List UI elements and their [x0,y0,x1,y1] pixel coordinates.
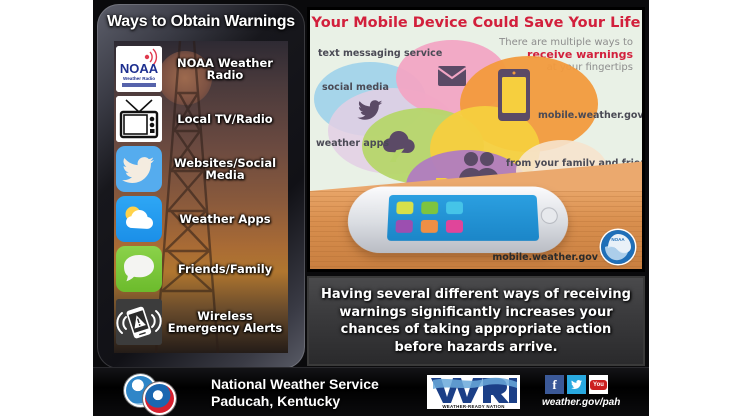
youtube-glyph: You [590,380,607,390]
svg-text:NOAA: NOAA [120,61,159,76]
television-icon [116,96,162,142]
phone-screen [387,195,539,241]
weather-ready-nation-logo: WEATHER-READY NATION [427,375,520,409]
envelope-icon [437,64,467,88]
slide-canvas: Ways to Obtain Warnings [93,0,649,416]
list-item-label: Wireless Emergency Alerts [162,310,288,335]
list-item[interactable]: Wireless Emergency Alerts [114,297,288,347]
twitter-bird-icon [354,98,384,122]
app-tile [421,202,438,215]
office-line-1: National Weather Service [211,376,379,392]
app-tile [446,220,463,233]
twitter-icon[interactable] [567,375,586,394]
list-item-label: NOAA Weather Radio [162,57,288,82]
mobile-phone-icon [496,68,532,122]
svg-text:Weather Radio: Weather Radio [123,76,155,81]
phone-home-button [540,207,558,224]
social-links[interactable]: f You [545,375,608,394]
svg-text:NOAA: NOAA [611,237,625,242]
facebook-icon[interactable]: f [545,375,564,394]
list-item-label: Friends/Family [162,263,288,276]
infographic-subhead-line1: There are multiple ways to [499,37,633,48]
page-title: Ways to Obtain Warnings [97,13,305,31]
wireless-emergency-alert-icon [116,299,162,345]
label-mobile-weather-gov: mobile.weather.gov [538,110,644,121]
website-url[interactable]: weather.gov/pah [542,397,620,408]
weather-app-sun-cloud-icon [116,196,162,242]
national-weather-service-seal-icon [143,382,176,415]
list-item[interactable]: Local TV/Radio [114,95,288,143]
wrn-tagline: WEATHER-READY NATION [427,404,520,409]
noaa-seal-icon: NOAA [601,230,635,264]
phone-url-label: mobile.weather.gov [492,252,598,263]
twitter-bird-icon [116,146,162,192]
app-tile [395,220,413,233]
facebook-glyph: f [552,377,556,393]
screenshot-root: Ways to Obtain Warnings [0,0,740,416]
youtube-icon[interactable]: You [589,375,608,394]
office-line-2: Paducah, Kentucky [211,393,340,409]
left-panel-screen: NOAA Weather Radio NOAA Weather Radio [114,41,288,353]
label-text-messaging: text messaging service [318,48,442,59]
infographic-headline: Your Mobile Device Could Save Your Life [310,15,642,31]
footer-bar: National Weather Service Paducah, Kentuc… [93,367,649,416]
smartphone-illustration [345,187,570,254]
label-weather-apps: weather apps [316,138,389,149]
office-name: National Weather Service Paducah, Kentuc… [211,376,379,410]
caption-box: Having several different ways of receivi… [307,276,645,366]
app-tile [446,202,463,215]
list-item[interactable]: Weather Apps [114,195,288,243]
list-item[interactable]: NOAA Weather Radio NOAA Weather Radio [114,45,288,93]
label-social-media: social media [322,82,389,93]
mobile-device-infographic: Your Mobile Device Could Save Your Life … [307,7,645,272]
ways-to-obtain-warnings-panel: Ways to Obtain Warnings [97,4,305,369]
list-item-label: Websites/Social Media [162,157,288,182]
app-tile [396,202,413,215]
messages-bubble-icon [116,246,162,292]
list-item[interactable]: Friends/Family [114,245,288,293]
caption-text: Having several different ways of receivi… [315,286,637,356]
list-item-label: Weather Apps [162,213,288,226]
app-tile [421,220,438,233]
list-item[interactable]: Websites/Social Media [114,145,288,193]
noaa-weather-radio-icon: NOAA Weather Radio [116,46,162,92]
list-item-label: Local TV/Radio [162,113,288,126]
